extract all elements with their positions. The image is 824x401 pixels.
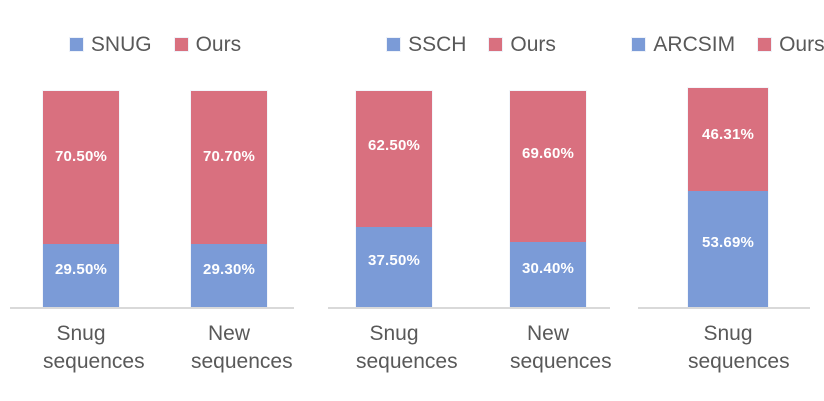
stacked-bar-chart-figure: SNUG Ours 70.50% 29.50% (0, 0, 824, 401)
stacked-bar: 46.31% 53.69% (688, 88, 768, 307)
bar-segment-value: 46.31% (702, 127, 754, 142)
bar-segment-value: 53.69% (702, 235, 754, 250)
legend-item-ours: Ours (174, 34, 242, 55)
bar-group-arcsim: 46.31% 53.69% (632, 88, 824, 307)
legend-arcsim: ARCSIM Ours (632, 34, 824, 55)
stacked-bar: 70.50% 29.50% (43, 91, 119, 307)
bar-segment-value: 70.70% (203, 149, 255, 164)
stacked-bar: 70.70% 29.30% (191, 91, 267, 307)
stacked-bar: 69.60% 30.40% (510, 91, 586, 307)
x-axis-line (328, 307, 610, 309)
bar-group-snug: 70.50% 29.50% 70.70% 29.30% (0, 91, 310, 307)
x-axis-label: Snug sequences (356, 320, 432, 376)
x-axis-label: Snug sequences (43, 320, 119, 376)
bar-segment-snug: 29.30% (191, 244, 267, 307)
legend-ssch: SSCH Ours (318, 34, 624, 55)
legend-label-ours: Ours (510, 34, 556, 55)
legend-swatch-blue-icon (631, 37, 646, 52)
legend-item-ssch: SSCH (386, 34, 466, 55)
plot-area-snug: 70.50% 29.50% 70.70% 29.30% (0, 91, 310, 307)
bar-segment-value: 30.40% (522, 261, 574, 276)
chart-panel-arcsim: ARCSIM Ours 46.31% 53.69% (632, 0, 824, 401)
bar-segment-value: 70.50% (55, 149, 107, 164)
bar-segment-ssch: 37.50% (356, 227, 432, 307)
x-axis-label: New sequences (191, 320, 267, 376)
bar-segment-value: 37.50% (368, 253, 420, 268)
legend-swatch-blue-icon (69, 37, 84, 52)
legend-swatch-red-icon (757, 37, 772, 52)
bar-group-ssch: 62.50% 37.50% 69.60% 30.40% (318, 91, 624, 307)
x-axis-label: Snug sequences (688, 320, 768, 376)
bar-segment-ours: 46.31% (688, 88, 768, 191)
bar-segment-ssch: 30.40% (510, 242, 586, 307)
bar-segment-value: 62.50% (368, 138, 420, 153)
bar-segment-ours: 70.70% (191, 91, 267, 244)
plot-area-arcsim: 46.31% 53.69% (632, 88, 824, 307)
stacked-bar: 62.50% 37.50% (356, 91, 432, 307)
bar-segment-arcsim: 53.69% (688, 191, 768, 308)
bar-segment-ours: 70.50% (43, 91, 119, 244)
legend-swatch-red-icon (174, 37, 189, 52)
legend-label-arcsim: ARCSIM (653, 34, 735, 55)
plot-area-ssch: 62.50% 37.50% 69.60% 30.40% (318, 91, 624, 307)
legend-label-ours: Ours (196, 34, 242, 55)
legend-item-ours: Ours (488, 34, 556, 55)
bar-segment-value: 69.60% (522, 146, 574, 161)
legend-snug: SNUG Ours (0, 34, 310, 55)
legend-label-ours: Ours (779, 34, 824, 55)
x-axis-labels-snug: Snug sequences New sequences (0, 320, 310, 376)
chart-panel-ssch: SSCH Ours 62.50% 37.50% (318, 0, 624, 401)
legend-swatch-blue-icon (386, 37, 401, 52)
x-axis-line (10, 307, 294, 309)
bar-segment-value: 29.50% (55, 262, 107, 277)
chart-panel-snug: SNUG Ours 70.50% 29.50% (0, 0, 310, 401)
legend-label-ssch: SSCH (408, 34, 466, 55)
bar-segment-value: 29.30% (203, 262, 255, 277)
x-axis-labels-arcsim: Snug sequences (632, 320, 824, 376)
x-axis-label: New sequences (510, 320, 586, 376)
bar-segment-ours: 69.60% (510, 91, 586, 242)
legend-item-snug: SNUG (69, 34, 152, 55)
legend-item-ours: Ours (757, 34, 824, 55)
bar-segment-snug: 29.50% (43, 244, 119, 307)
x-axis-labels-ssch: Snug sequences New sequences (318, 320, 624, 376)
bar-segment-ours: 62.50% (356, 91, 432, 227)
x-axis-line (638, 307, 810, 309)
legend-swatch-red-icon (488, 37, 503, 52)
legend-item-arcsim: ARCSIM (631, 34, 735, 55)
legend-label-snug: SNUG (91, 34, 152, 55)
